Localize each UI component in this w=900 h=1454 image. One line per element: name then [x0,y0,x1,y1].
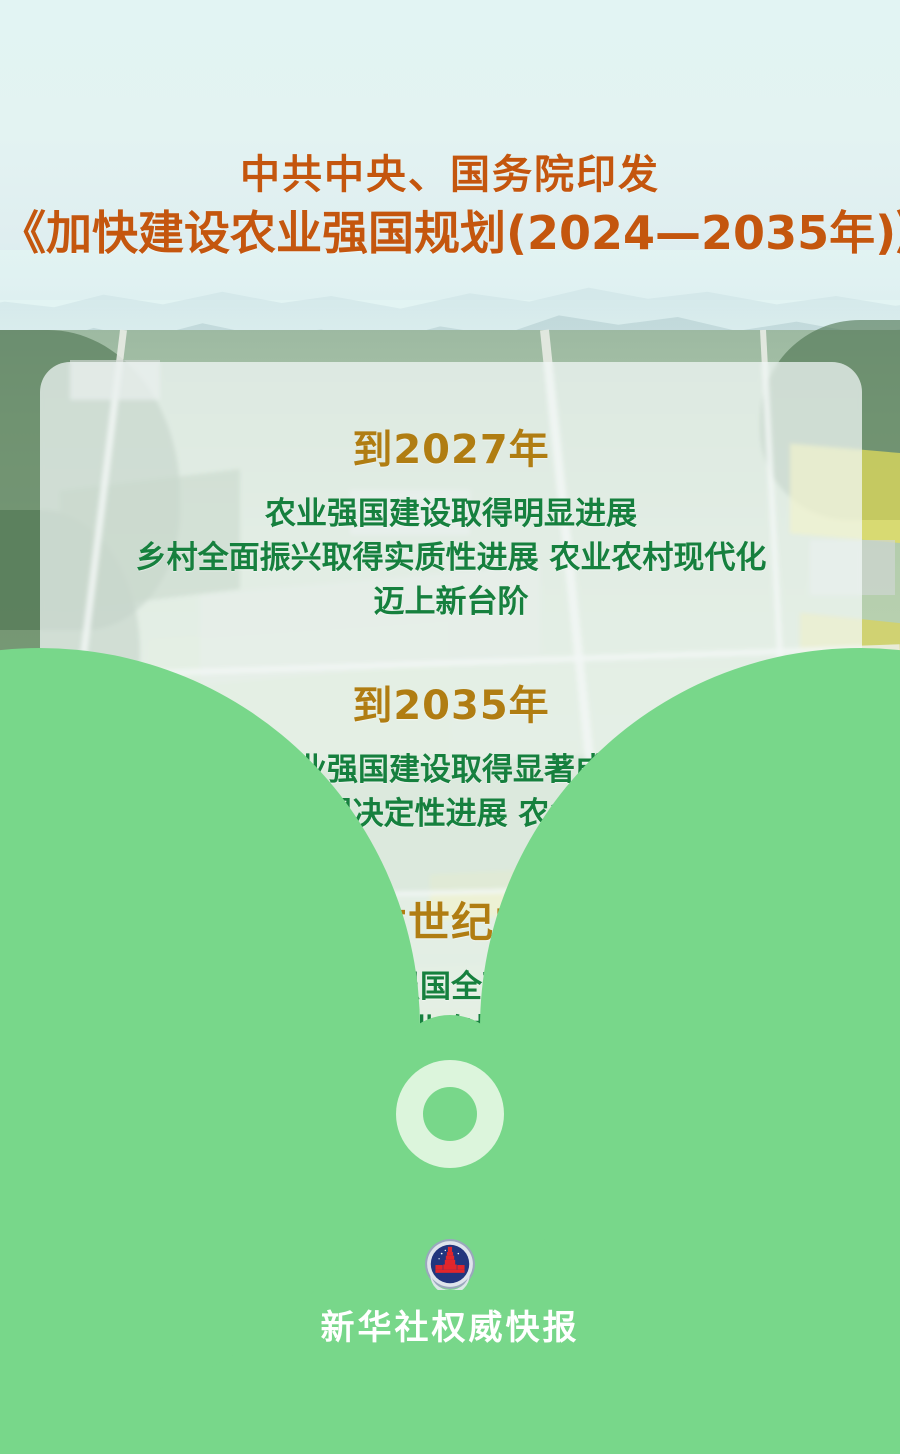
infographic-poster: 中共中央、国务院印发 《加快建设农业强国规划(2024—2035年)》 到202… [0,0,900,1454]
milestone-2027-line-3: 迈上新台阶 [40,580,862,624]
milestone-2027-line-2: 乡村全面振兴取得实质性进展 农业农村现代化 [40,536,862,580]
poster-footer: XINHUA 新华社权威快报 [0,1098,900,1454]
footer-brand-caption: 新华社权威快报 [0,1300,900,1349]
headline-issuer-line: 中共中央、国务院印发 [0,150,900,200]
milestone-block-2027: 到2027年 农业强国建设取得明显进展 乡村全面振兴取得实质性进展 农业农村现代… [40,362,862,624]
svg-text:XINHUA: XINHUA [440,1274,461,1280]
milestone-body-2027: 农业强国建设取得明显进展 乡村全面振兴取得实质性进展 农业农村现代化 迈上新台阶 [40,492,862,624]
milestone-2027-line-1: 农业强国建设取得明显进展 [40,492,862,536]
footer-decorative-ring [396,1060,504,1168]
xinhua-emblem-icon: XINHUA [424,1238,476,1290]
headline-document-title: 《加快建设农业强国规划(2024—2035年)》 [0,204,900,264]
poster-headline: 中共中央、国务院印发 《加快建设农业强国规划(2024—2035年)》 [0,150,900,264]
milestone-year-2027: 到2027年 [40,424,862,476]
footer-ring-hole [423,1087,477,1141]
